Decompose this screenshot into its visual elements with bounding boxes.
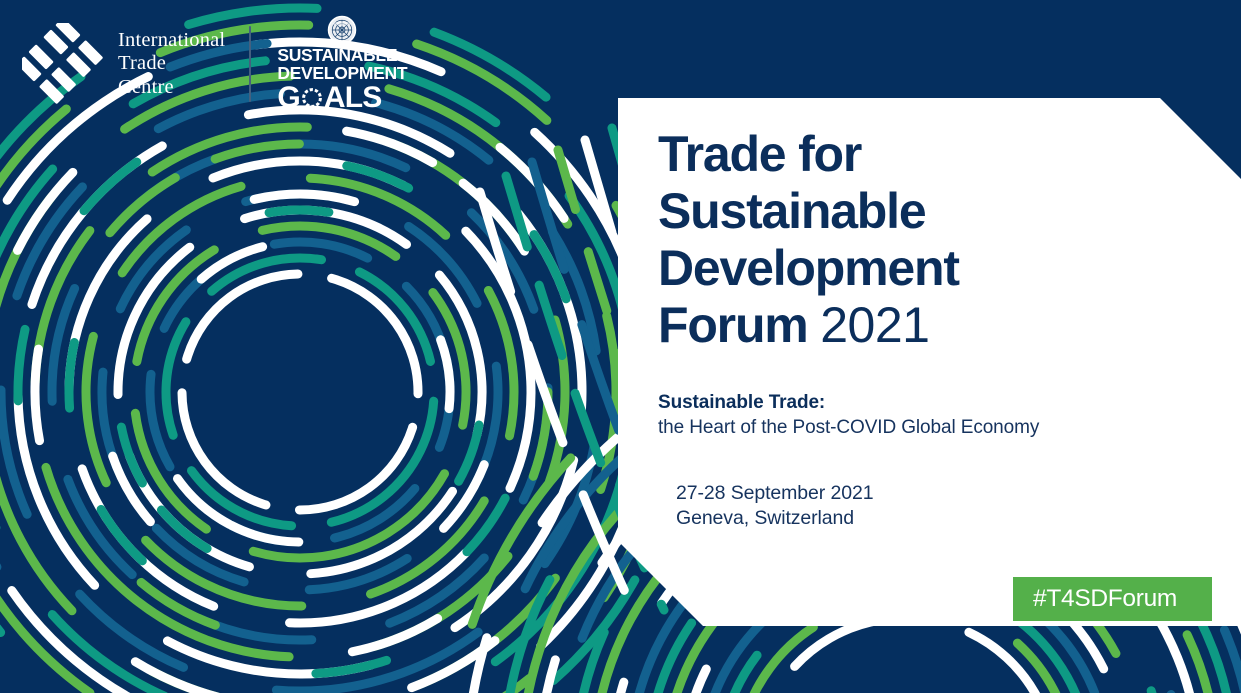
sdg-goals-als: ALS: [324, 83, 382, 113]
hashtag-text: #T4SDForum: [1013, 585, 1177, 613]
itc-wordmark-line2: Trade: [118, 52, 225, 75]
event-details: 27-28 September 2021 Geneva, Switzerland: [676, 481, 1217, 533]
itc-wordmark: International Trade Centre: [118, 29, 225, 98]
subtitle-emphasis: Sustainable Trade:: [658, 390, 1217, 415]
event-location: Geneva, Switzerland: [676, 506, 1217, 532]
sdg-line-development: DEVELOPMENT: [277, 65, 407, 83]
hashtag-badge: #T4SDForum: [1013, 577, 1212, 621]
page-title: Trade for Sustainable Development Forum …: [658, 126, 1217, 354]
itc-diamond-mark-icon: [22, 23, 104, 105]
sdg-colour-wheel-icon: [300, 86, 324, 110]
sdg-goals-g: G: [277, 83, 300, 113]
title-line-1: Trade for: [658, 126, 861, 182]
subtitle-detail: the Heart of the Post-COVID Global Econo…: [658, 415, 1217, 440]
event-subtitle: Sustainable Trade: the Heart of the Post…: [658, 390, 1217, 441]
sdg-line-goals: G ALS: [277, 83, 381, 113]
event-info-card-content: Trade for Sustainable Development Forum …: [658, 126, 1217, 532]
header-logo-group: International Trade Centre: [22, 18, 407, 110]
itc-wordmark-line1: International: [118, 29, 225, 52]
logo-divider: [249, 26, 251, 102]
sdg-logo: SUSTAINABLE DEVELOPMENT G ALS: [277, 15, 407, 113]
event-info-card: Trade for Sustainable Development Forum …: [618, 98, 1241, 626]
title-line-4: Forum: [658, 297, 820, 353]
event-date: 27-28 September 2021: [676, 481, 1217, 507]
title-line-3: Development: [658, 240, 959, 296]
un-emblem-icon: [327, 15, 357, 45]
itc-wordmark-line3: Centre: [118, 76, 225, 99]
itc-logo: International Trade Centre: [22, 23, 225, 105]
sdg-wordmark: SUSTAINABLE DEVELOPMENT G ALS: [277, 47, 407, 113]
sdg-line-sustainable: SUSTAINABLE: [277, 47, 397, 65]
title-year: 2021: [820, 297, 929, 353]
banner-canvas: International Trade Centre: [0, 0, 1241, 693]
title-line-2: Sustainable: [658, 183, 925, 239]
